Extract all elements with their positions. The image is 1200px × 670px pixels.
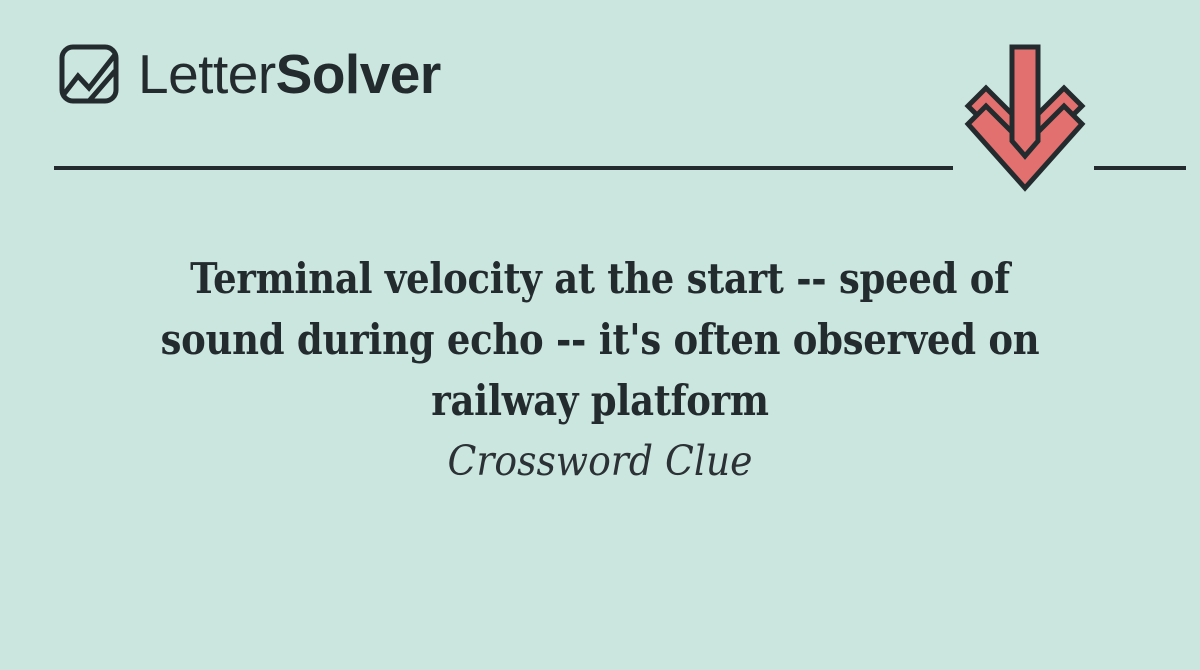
clue-title: Terminal velocity at the start -- speed … (120, 248, 1079, 431)
page-header: LetterSolver (0, 0, 1200, 200)
brand-logo[interactable]: LetterSolver (58, 38, 441, 110)
horizontal-divider-left (54, 166, 953, 170)
horizontal-divider-right (1094, 166, 1186, 170)
clue-subtitle: Crossword Clue (99, 433, 1102, 489)
page-root: LetterSolver Terminal velocity at the st… (0, 0, 1200, 670)
checkmark-square-logo-icon (58, 43, 120, 105)
brand-wordmark: LetterSolver (138, 43, 441, 105)
brand-name-bold: Solver (276, 43, 441, 105)
down-arrow-icon (960, 40, 1090, 195)
brand-name-light: Letter (138, 43, 276, 105)
clue-section: Terminal velocity at the start -- speed … (0, 248, 1200, 489)
